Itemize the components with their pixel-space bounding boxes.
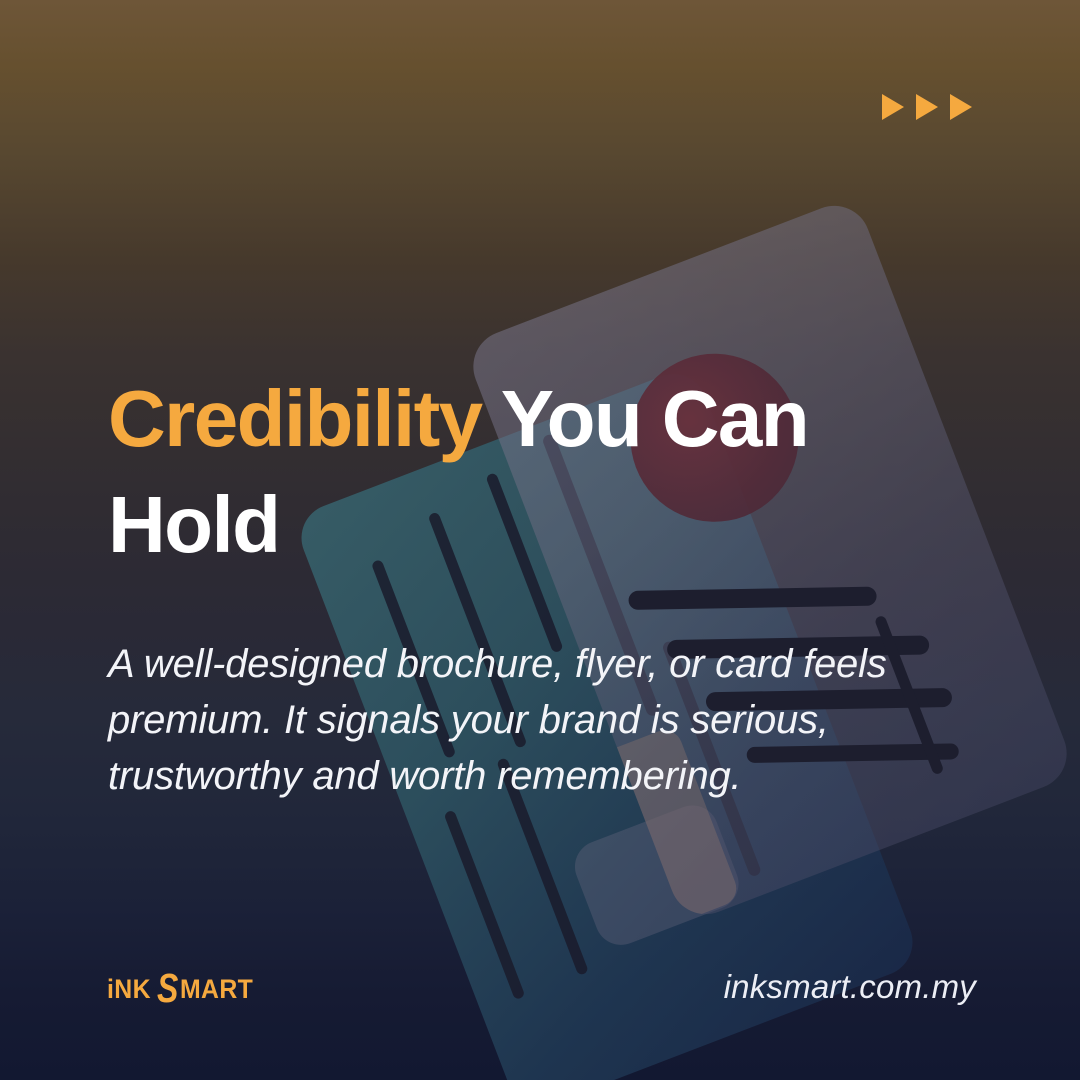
play-arrow-icon — [882, 94, 904, 120]
logo-s-mark-icon: S — [157, 972, 178, 1005]
headline: Credibility You Can Hold — [108, 366, 938, 579]
play-arrow-icon — [916, 94, 938, 120]
arrow-group — [882, 94, 972, 120]
inksmart-logo: iNK S MART — [107, 968, 260, 1005]
website-url: inksmart.com.my — [724, 968, 976, 1006]
headline-accent: Credibility — [108, 374, 482, 463]
logo-prefix: iNK — [107, 974, 151, 1005]
play-arrow-icon — [950, 94, 972, 120]
body-copy: A well-designed brochure, flyer, or card… — [108, 636, 948, 804]
social-post-canvas: Credibility You Can Hold A well-designed… — [0, 0, 1080, 1080]
logo-suffix: MART — [180, 974, 253, 1005]
